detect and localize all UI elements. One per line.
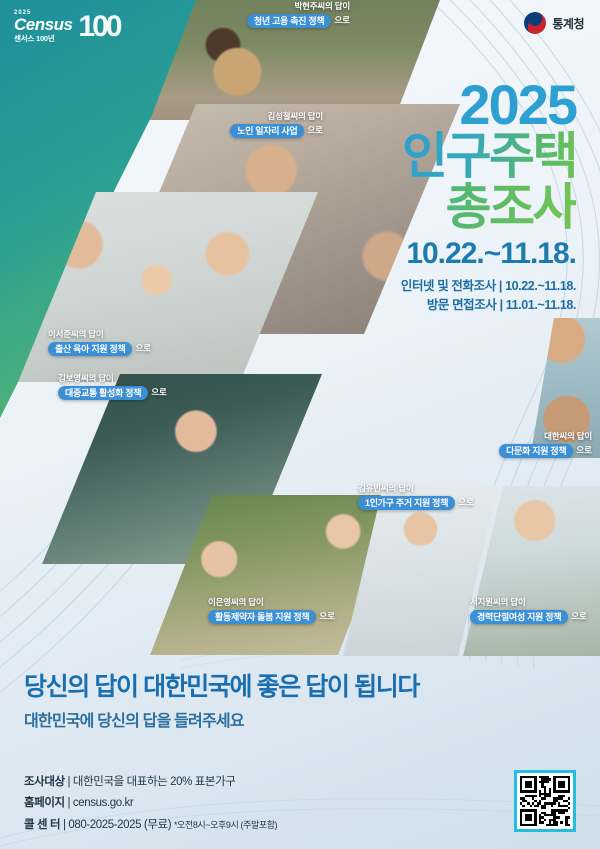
anniversary-100-icon: 100 — [78, 12, 119, 42]
slogan-block: 당신의 답이 대한민국에 좋은 답이 됩니다 대한민국에 당신의 답을 들려주세… — [24, 672, 419, 731]
callout-policy-badge: 청년 고용 촉진 정책 — [247, 14, 331, 28]
survey-method-internet-phone: 인터넷 및 전화조사 | 10.22.~11.18. — [401, 277, 576, 296]
qr-code-matrix — [520, 776, 570, 826]
callout-suffix: 으로 — [319, 612, 335, 622]
callout-policy-badge: 1인가구 주거 지원 정책 — [358, 496, 455, 510]
callout-policy-badge: 노인 일자리 사업 — [230, 124, 304, 138]
census-logo-wordmark: Census — [14, 16, 72, 33]
callout-kim-boyoung: 김보영씨의 답이 대중교통 활성화 정책 으로 — [58, 374, 167, 400]
callout-suffix: 으로 — [307, 126, 323, 136]
callout-policy-badge: 경력단절여성 지원 정책 — [470, 610, 568, 624]
footer-row-target: 조사대상 | 대한민국을 대표하는 20% 표본가구 — [24, 772, 277, 793]
callout-policy-badge: 활동제약자 돌봄 지원 정책 — [208, 610, 316, 624]
callout-suffix: 으로 — [571, 612, 587, 622]
callout-kim-seongcheol: 김성철씨의 답이 노인 일자리 사업 으로 — [230, 112, 323, 138]
callout-park-hyunju: 박현주씨의 답이 청년 고용 촉진 정책 으로 — [247, 2, 350, 28]
callout-person-name: 이서준씨의 답이 — [48, 330, 151, 340]
callout-lee-seojun: 이서준씨의 답이 출산 육아 지원 정책 으로 — [48, 330, 151, 356]
callcenter-hours: *오전8시~오후9시 (주말포함) — [174, 820, 277, 830]
callout-person-name: 이은영씨의 답이 — [208, 598, 335, 608]
title-date-range: 10.22.~11.18. — [401, 237, 576, 271]
callout-person-name: 대한씨의 답이 — [499, 432, 592, 442]
footer-row-callcenter: 콜 센 터 | 080-2025-2025 (무료) *오전8시~오후9시 (주… — [24, 815, 277, 836]
census-logo-korean: 센서스 100년 — [14, 33, 72, 44]
slogan-subline: 대한민국에 당신의 답을 들려주세요 — [24, 707, 419, 731]
qr-code[interactable] — [514, 770, 576, 832]
callout-daehan: 대한씨의 답이 다문화 지원 정책 으로 — [499, 432, 592, 458]
callout-policy-badge: 대중교통 활성화 정책 — [58, 386, 148, 400]
website-link[interactable]: census.go.kr — [73, 797, 133, 809]
census-logo: 2025 Census 센서스 100년 100 — [14, 10, 119, 44]
footer-row-website: 홈페이지 | census.go.kr — [24, 793, 277, 814]
callout-seo-jiwon: 서지원씨의 답이 경력단절여성 지원 정책 으로 — [470, 598, 587, 624]
survey-method-visit-interview: 방문 면접조사 | 11.01.~11.18. — [401, 296, 576, 315]
callout-lee-eunyoung: 이은영씨의 답이 활동제약자 돌봄 지원 정책 으로 — [208, 598, 335, 624]
agency-name: 통계청 — [552, 15, 584, 32]
callout-suffix: 으로 — [135, 344, 151, 354]
callcenter-number[interactable]: 080-2025-2025 (무료) — [68, 819, 171, 831]
callout-suffix: 으로 — [334, 16, 350, 26]
callout-person-name: 박현주씨의 답이 — [247, 2, 350, 12]
callout-policy-badge: 출산 육아 지원 정책 — [48, 342, 132, 356]
callout-person-name: 김유빈씨의 답이 — [358, 484, 474, 494]
title-line1: 인구주택 — [401, 131, 576, 182]
slogan-headline: 당신의 답이 대한민국에 좋은 답이 됩니다 — [24, 672, 419, 702]
callout-kim-yubin: 김유빈씨의 답이 1인가구 주거 지원 정책 으로 — [358, 484, 474, 510]
census-poster: 박현주씨의 답이 청년 고용 촉진 정책 으로 김성철씨의 답이 노인 일자리 … — [0, 0, 600, 849]
callout-suffix: 으로 — [151, 388, 167, 398]
government-logo: 통계청 — [524, 12, 584, 34]
callout-policy-badge: 다문화 지원 정책 — [499, 444, 573, 458]
callout-person-name: 서지원씨의 답이 — [470, 598, 587, 608]
title-year: 2025 — [401, 78, 576, 131]
footer-info: 조사대상 | 대한민국을 대표하는 20% 표본가구 홈페이지 | census… — [24, 772, 277, 836]
title-block: 2025 인구주택 총조사 10.22.~11.18. 인터넷 및 전화조사 |… — [401, 78, 576, 315]
survey-methods: 인터넷 및 전화조사 | 10.22.~11.18. 방문 면접조사 | 11.… — [401, 277, 576, 315]
taeguk-icon — [524, 12, 546, 34]
title-line2: 총조사 — [401, 182, 576, 233]
callout-person-name: 김성철씨의 답이 — [230, 112, 323, 122]
callout-person-name: 김보영씨의 답이 — [58, 374, 167, 384]
callout-suffix: 으로 — [576, 446, 592, 456]
callout-suffix: 으로 — [458, 498, 474, 508]
